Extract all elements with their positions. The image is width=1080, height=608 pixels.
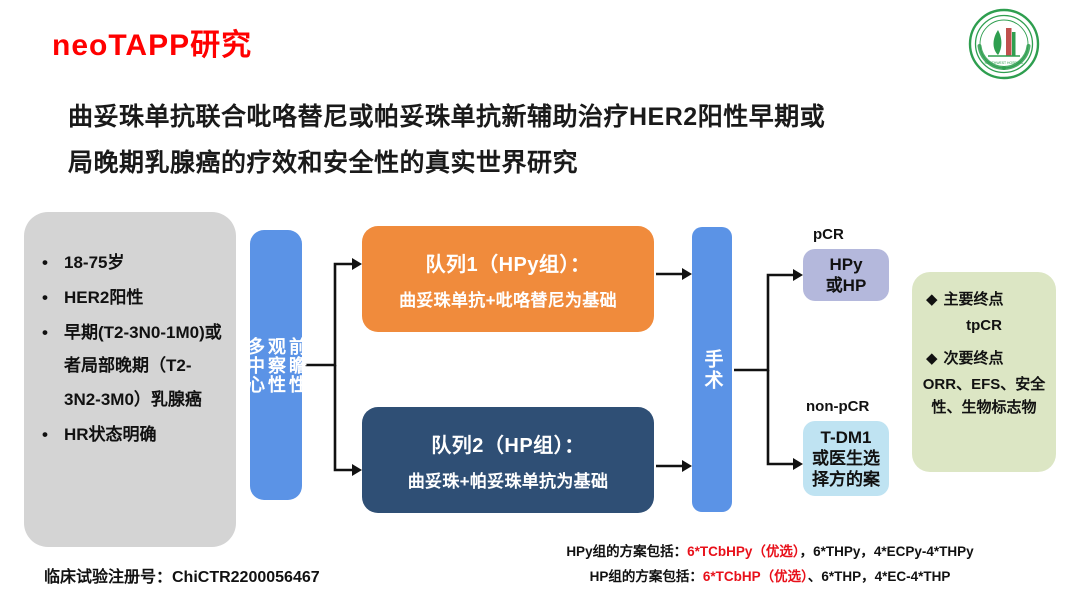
- slide-canvas: neoTAPP研究 SOUTHWEST HOSPITAL 曲妥珠单抗联合吡咯替尼…: [0, 0, 1080, 608]
- secondary-endpoint-heading: ◆次要终点: [912, 347, 1056, 370]
- bullet-icon: •: [42, 316, 48, 349]
- pcr-label: pCR: [813, 226, 844, 243]
- secondary-endpoint-label: 次要终点: [944, 350, 1004, 367]
- primary-endpoint-value: tpCR: [912, 314, 1056, 337]
- cohort-1-title: 队列1（HPy组）：: [425, 248, 590, 277]
- non-pcr-line-3: 择方的案: [812, 469, 880, 490]
- hpy-regimen-note: HPy组的方案包括：6*TCbHPy（优选），6*THPy，4*ECPy-4*T…: [470, 540, 1070, 565]
- pcr-line-2: 或HP: [826, 275, 867, 296]
- cohort-1-regimen: 曲妥珠单抗+吡咯替尼为基础: [399, 286, 617, 311]
- hpy-note-suffix: ，6*THPy，4*ECPy-4*THPy: [800, 544, 974, 559]
- regimen-footnotes: HPy组的方案包括：6*TCbHPy（优选），6*THPy，4*ECPy-4*T…: [470, 540, 1070, 590]
- endpoints-content: ◆主要终点 tpCR ◆次要终点 ORR、EFS、安全性、生物标志物: [912, 288, 1056, 428]
- hp-note-suffix: 、6*THP，4*EC-4*THP: [808, 569, 951, 584]
- pcr-treatment-box: HPy 或HP: [803, 249, 889, 301]
- diamond-icon: ◆: [926, 291, 938, 308]
- list-item-label: 18-75岁: [64, 253, 124, 272]
- non-pcr-line-2: 或医生选: [812, 448, 880, 469]
- page-title: neoTAPP研究: [52, 20, 252, 64]
- bullet-icon: •: [42, 281, 48, 314]
- southwest-hospital-seal-icon: SOUTHWEST HOSPITAL: [968, 8, 1040, 80]
- bullet-icon: •: [42, 418, 48, 451]
- study-design-bar: 前瞻性 观察性 多中心: [250, 230, 302, 500]
- design-col-multicenter: 多中心: [246, 337, 264, 394]
- hp-note-highlight: 6*TCbHP（优选）: [703, 569, 808, 584]
- cohort-1-box: 队列1（HPy组）： 曲妥珠单抗+吡咯替尼为基础: [362, 226, 654, 332]
- eligibility-list: • 18-75岁 • HER2阳性 • 早期(T2-3N0-1M0)或者局部晚期…: [38, 246, 228, 453]
- list-item: • HR状态明确: [38, 418, 228, 451]
- surgery-box: 手术: [692, 227, 732, 512]
- slide-subtitle: 曲妥珠单抗联合吡咯替尼或帕妥珠单抗新辅助治疗HER2阳性早期或 局晚期乳腺癌的疗…: [68, 94, 1008, 187]
- secondary-endpoint-value: ORR、EFS、安全性、生物标志物: [912, 373, 1056, 420]
- svg-text:SOUTHWEST HOSPITAL: SOUTHWEST HOSPITAL: [984, 61, 1023, 65]
- trial-registry-number: 临床试验注册号：ChiCTR2200056467: [44, 563, 320, 587]
- diamond-icon: ◆: [926, 350, 938, 367]
- non-pcr-label: non-pCR: [806, 398, 869, 415]
- list-item-label: HER2阳性: [64, 288, 143, 307]
- title-line-1: 曲妥珠单抗联合吡咯替尼或帕妥珠单抗新辅助治疗HER2阳性早期或: [68, 94, 1008, 140]
- cohort-2-regimen: 曲妥珠+帕妥珠单抗为基础: [408, 467, 609, 492]
- hpy-note-highlight: 6*TCbHPy（优选）: [687, 544, 800, 559]
- non-pcr-treatment-box: T-DM1 或医生选 择方的案: [803, 421, 889, 496]
- list-item-label: HR状态明确: [64, 425, 157, 444]
- design-col-prospective: 前瞻性: [288, 337, 306, 394]
- surgery-label: 手术: [699, 349, 726, 391]
- pcr-line-1: HPy: [829, 254, 862, 275]
- hp-regimen-note: HP组的方案包括：6*TCbHP（优选）、6*THP，4*EC-4*THP: [470, 565, 1070, 590]
- bullet-icon: •: [42, 246, 48, 279]
- list-item-label: 早期(T2-3N0-1M0)或者局部晚期（T2-3N2-3M0）乳腺癌: [64, 323, 222, 408]
- primary-endpoint-heading: ◆主要终点: [912, 288, 1056, 311]
- hp-note-prefix: HP组的方案包括：: [590, 569, 703, 584]
- list-item: • 18-75岁: [38, 246, 228, 279]
- primary-endpoint-label: 主要终点: [944, 291, 1004, 308]
- non-pcr-line-1: T-DM1: [821, 427, 872, 448]
- hpy-note-prefix: HPy组的方案包括：: [566, 544, 687, 559]
- cohort-2-box: 队列2（HP组）： 曲妥珠+帕妥珠单抗为基础: [362, 407, 654, 513]
- list-item: • 早期(T2-3N0-1M0)或者局部晚期（T2-3N2-3M0）乳腺癌: [38, 316, 228, 415]
- title-line-2: 局晚期乳腺癌的疗效和安全性的真实世界研究: [68, 140, 1008, 186]
- list-item: • HER2阳性: [38, 281, 228, 314]
- cohort-2-title: 队列2（HP组）：: [431, 429, 584, 458]
- design-col-observational: 观察性: [267, 337, 285, 394]
